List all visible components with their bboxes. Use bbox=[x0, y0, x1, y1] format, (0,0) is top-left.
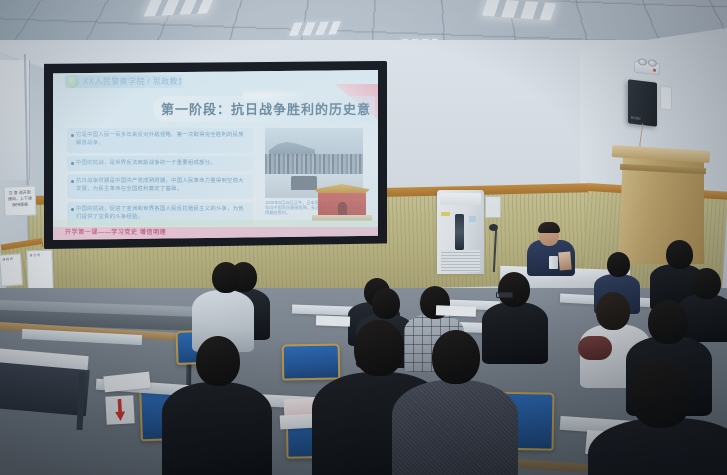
slide-logo-text: XX人民警察学院 / 思政教育 bbox=[83, 76, 181, 87]
classroom-scene: 注 意 请开窗通风，上下课保持距离 课 程 表 值 日 表 XX人民警察学院 /… bbox=[0, 0, 727, 475]
projection-screen-frame: XX人民警察学院 / 思政教育 第一阶段：抗日战争胜利的历史意义 它是中国人民一… bbox=[44, 61, 387, 249]
student-12-head bbox=[648, 300, 688, 344]
paper-sheet-3 bbox=[436, 305, 476, 316]
slide-footer-text: 开学第一课——学习党史 增信明理 bbox=[65, 227, 166, 236]
student-10-head bbox=[692, 268, 721, 299]
wall-mount-plate bbox=[660, 85, 672, 110]
slide-title: 第一阶段：抗日战争胜利的历史意义 bbox=[161, 99, 371, 118]
instructor-hair bbox=[538, 222, 560, 233]
chair-mid-center[interactable] bbox=[282, 343, 341, 380]
student-8-head bbox=[498, 272, 530, 307]
speaker-brand-label: BOSE bbox=[631, 116, 641, 121]
slide-bullet-3: 抗日战争时期是中国共产党成熟时期，中国人民革命力量得到空前大发展，为民主革命在全… bbox=[67, 174, 253, 199]
student-11-sleeve bbox=[578, 336, 612, 360]
gate-door bbox=[338, 202, 347, 215]
student-8-torso bbox=[482, 302, 548, 364]
photo-crowd bbox=[265, 154, 363, 176]
slide-logo-icon bbox=[66, 75, 79, 88]
ac-display-slit bbox=[455, 214, 464, 250]
water-cup bbox=[549, 256, 558, 269]
instructor-book bbox=[558, 252, 572, 271]
slide-bullet-2: 中国的抗战，是世界反法西斯战争的一个重要组成部分。 bbox=[67, 156, 253, 171]
left-wall-notice: 注 意 请开窗通风，上下课保持距离 bbox=[3, 185, 36, 216]
microphone-icon bbox=[489, 224, 498, 231]
student-11-head bbox=[596, 292, 630, 330]
student-5-head bbox=[432, 330, 480, 384]
ac-top-vent bbox=[440, 193, 481, 205]
student-6-head bbox=[372, 288, 400, 319]
emergency-lamp-head-left bbox=[638, 58, 647, 66]
wall-switch-box[interactable] bbox=[485, 196, 501, 218]
student-2-head bbox=[196, 336, 240, 386]
student-9-head bbox=[607, 252, 630, 277]
presentation-slide: XX人民警察学院 / 思政教育 第一阶段：抗日战争胜利的历史意义 它是中国人民一… bbox=[53, 70, 378, 240]
arrow-down-icon bbox=[114, 399, 125, 421]
paper-card-1: 课 程 表 bbox=[0, 253, 23, 286]
student-4-head bbox=[354, 320, 404, 376]
gate-roof bbox=[314, 184, 370, 193]
student-5-torso bbox=[392, 380, 518, 475]
tiananmen-gate-graphic bbox=[308, 182, 376, 222]
slide-bullet-4-text: 中国的抗战，促进了亚洲和世界各国人民反抗殖民主义的斗争，为他们提供了宝贵的斗争经… bbox=[76, 205, 249, 221]
front-left-desk-front bbox=[0, 362, 90, 416]
ac-air-grille bbox=[441, 250, 480, 272]
slide-bullet-1-text: 它是中国人民一百多年来反对外敌侵略、第一次取得完全胜利的民族解放战争。 bbox=[76, 131, 249, 147]
student-1-head bbox=[212, 262, 240, 293]
slide-bullet-3-text: 抗日战争时期是中国共产党成熟时期，中国人民革命力量得到空前大发展，为民主革命在全… bbox=[76, 177, 249, 193]
ceiling-light-fixture-2 bbox=[289, 21, 341, 36]
paper-sheet-2 bbox=[316, 315, 350, 326]
emergency-light-indicator bbox=[653, 69, 656, 72]
student-14-head bbox=[666, 240, 693, 269]
emergency-lamp-head-right bbox=[648, 59, 657, 67]
paper-card-2: 值 日 表 bbox=[26, 250, 53, 291]
red-down-arrow-floor-sticker bbox=[105, 395, 134, 424]
wall-speaker: BOSE bbox=[628, 79, 657, 127]
ac-control-panel[interactable] bbox=[469, 216, 476, 222]
projection-screen-surface[interactable]: XX人民警察学院 / 思政教育 第一阶段：抗日战争胜利的历史意义 它是中国人民一… bbox=[53, 70, 378, 240]
air-conditioner[interactable] bbox=[437, 190, 484, 274]
student-8-glasses bbox=[496, 292, 513, 298]
ac-label-sticker bbox=[441, 212, 450, 216]
slide-bullet-2-text: 中国的抗战，是世界反法西斯战争的一个重要组成部分。 bbox=[76, 159, 249, 167]
slide-bullet-1: 它是中国人民一百多年来反对外敌侵略、第一次取得完全胜利的民族解放战争。 bbox=[67, 128, 253, 153]
student-foreground-right-head bbox=[630, 360, 692, 428]
